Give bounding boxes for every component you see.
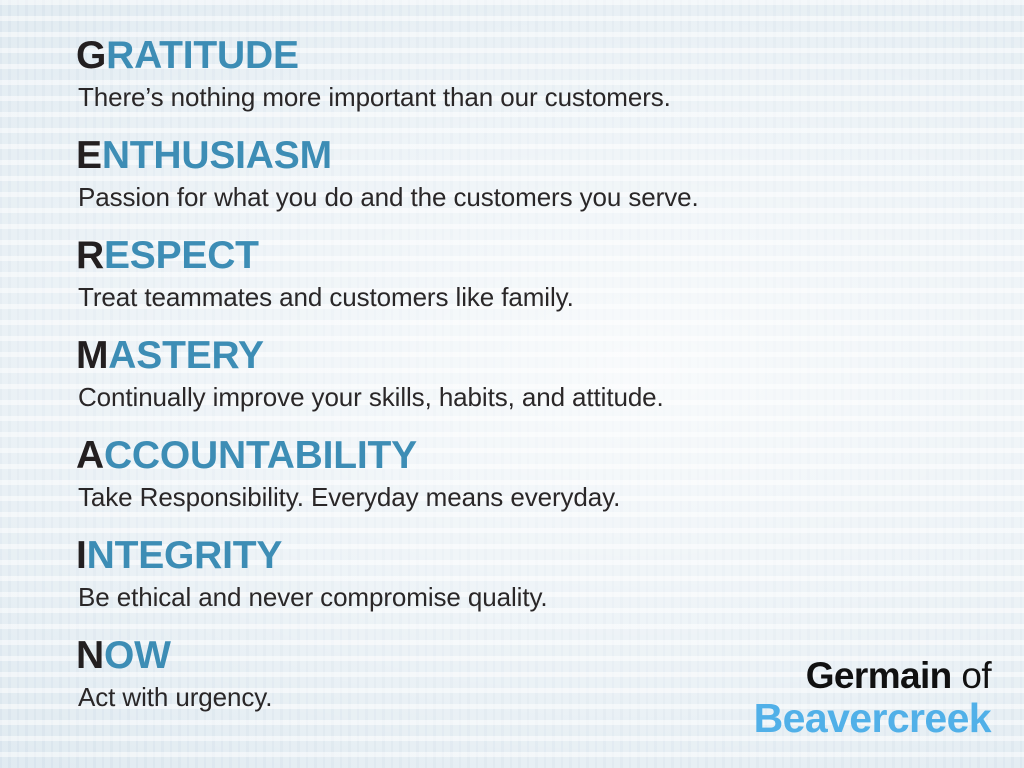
value-block-gratitude: GRATITUDE There’s nothing more important… (76, 34, 976, 134)
value-description-gratitude: There’s nothing more important than our … (78, 80, 976, 114)
value-word: ASTERY (108, 334, 264, 377)
value-heading-mastery: MASTERY (76, 334, 976, 378)
value-block-integrity: INTEGRITY Be ethical and never compromis… (76, 534, 976, 634)
logo-connector: of (952, 655, 991, 696)
value-block-mastery: MASTERY Continually improve your skills,… (76, 334, 976, 434)
core-values-list: GRATITUDE There’s nothing more important… (76, 34, 976, 734)
value-description-mastery: Continually improve your skills, habits,… (78, 380, 976, 414)
value-word: CCOUNTABILITY (104, 434, 417, 477)
value-word: RATITUDE (106, 34, 299, 77)
value-heading-accountability: ACCOUNTABILITY (76, 434, 976, 478)
value-description-accountability: Take Responsibility. Everyday means ever… (78, 480, 976, 514)
logo-brand-name: Germain (806, 655, 952, 696)
value-block-enthusiasm: ENTHUSIASM Passion for what you do and t… (76, 134, 976, 234)
value-word: OW (104, 634, 171, 677)
value-heading-respect: RESPECT (76, 234, 976, 278)
value-block-respect: RESPECT Treat teammates and customers li… (76, 234, 976, 334)
value-initial: E (76, 134, 102, 177)
value-word: NTHUSIASM (102, 134, 332, 177)
value-description-enthusiasm: Passion for what you do and the customer… (78, 180, 976, 214)
value-word: ESPECT (104, 234, 259, 277)
value-initial: N (76, 634, 104, 677)
value-block-accountability: ACCOUNTABILITY Take Responsibility. Ever… (76, 434, 976, 534)
value-initial: I (76, 534, 87, 577)
value-initial: M (76, 334, 108, 377)
value-description-respect: Treat teammates and customers like famil… (78, 280, 976, 314)
value-initial: R (76, 234, 104, 277)
value-initial: A (76, 434, 104, 477)
value-word: NTEGRITY (87, 534, 283, 577)
value-heading-gratitude: GRATITUDE (76, 34, 976, 78)
logo-location-name: Beavercreek (754, 696, 991, 740)
value-heading-enthusiasm: ENTHUSIASM (76, 134, 976, 178)
value-description-integrity: Be ethical and never compromise quality. (78, 580, 976, 614)
value-initial: G (76, 34, 106, 77)
dealership-logo: Germain of Beavercreek (754, 656, 991, 740)
value-heading-integrity: INTEGRITY (76, 534, 976, 578)
values-poster: GRATITUDE There’s nothing more important… (0, 0, 1024, 768)
logo-line-brand: Germain of (754, 656, 991, 696)
